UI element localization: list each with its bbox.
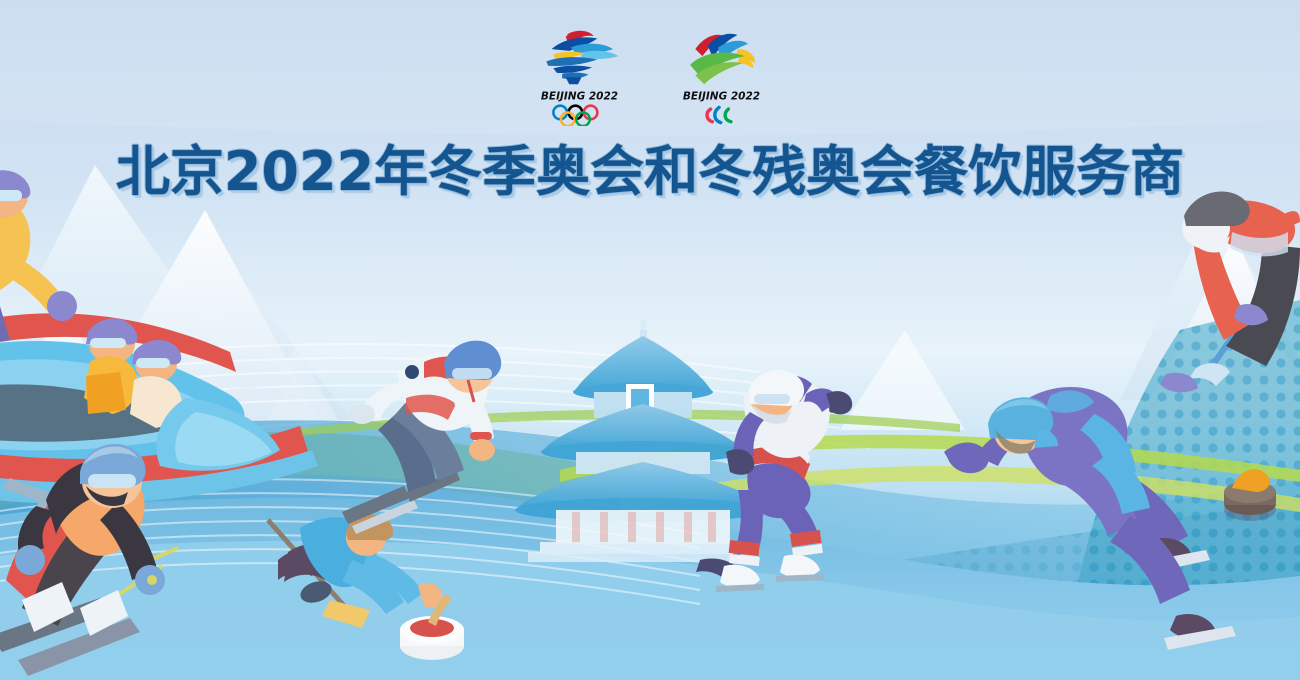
emblem-row: BEIJING 2022 [0, 28, 1300, 126]
beijing-2022-catering-banner: BEIJING 2022 [0, 0, 1300, 680]
olympic-emblem: BEIJING 2022 [527, 28, 631, 126]
olympic-rings [528, 104, 630, 126]
olympic-wordmark: BEIJING 2022 [527, 88, 632, 102]
agitos [670, 104, 772, 126]
page-title: 北京2022年冬季奥会和冬残奥会餐饮服务商 [0, 143, 1300, 201]
olympic-wordmark-text: BEIJING 2022 [541, 90, 618, 102]
winter-dream-emblem [527, 28, 632, 86]
paralympic-wordmark-text: BEIJING 2022 [683, 90, 760, 102]
paralympic-wordmark: BEIJING 2022 [669, 88, 774, 102]
flying-high-emblem [669, 28, 774, 86]
paralympic-emblem: BEIJING 2022 [669, 28, 773, 126]
